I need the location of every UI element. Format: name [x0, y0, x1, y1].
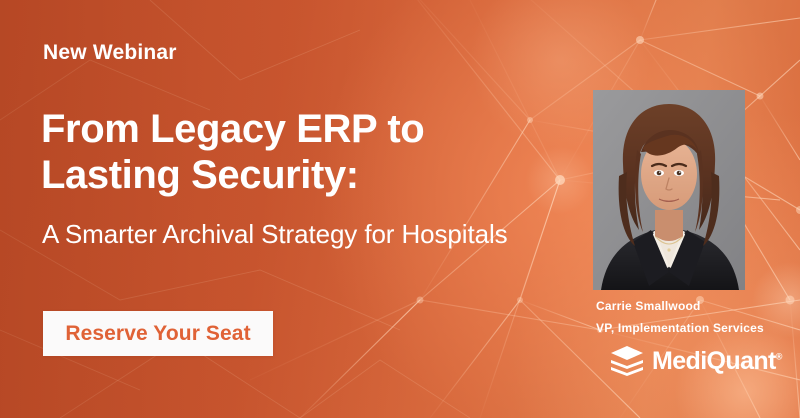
- headline-line-1: From Legacy ERP to: [41, 106, 424, 152]
- eyebrow-label: New Webinar: [43, 41, 177, 65]
- subtitle: A Smarter Archival Strategy for Hospital…: [42, 219, 508, 250]
- brand-name: MediQuant: [652, 347, 776, 375]
- registered-trademark-icon: ®: [776, 351, 783, 361]
- speaker-title: VP, Implementation Services: [596, 321, 764, 335]
- headline-line-2: Lasting Security:: [41, 152, 424, 198]
- webinar-promo-banner: New Webinar From Legacy ERP to Lasting S…: [0, 0, 800, 418]
- speaker-photo: [593, 90, 745, 290]
- reserve-your-seat-button[interactable]: Reserve Your Seat: [43, 311, 273, 356]
- speaker-name: Carrie Smallwood: [596, 299, 701, 313]
- brand-logo[interactable]: MediQuant®: [610, 345, 782, 377]
- page-title: From Legacy ERP to Lasting Security:: [41, 106, 424, 198]
- stacked-layers-icon: [610, 345, 644, 377]
- brand-wordmark: MediQuant®: [652, 349, 782, 374]
